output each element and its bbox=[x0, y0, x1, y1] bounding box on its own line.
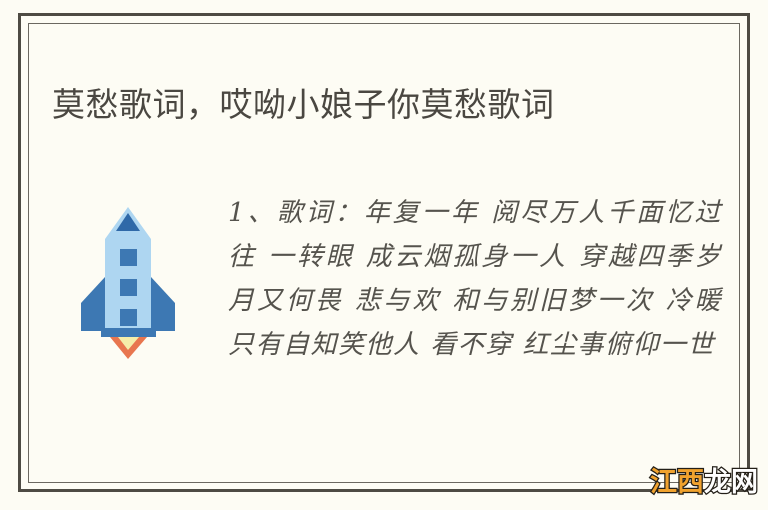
rocket-icon bbox=[79, 199, 177, 359]
lyrics-text: 1、歌词：年复一年 阅尽万人千面忆过往 一转眼 成云烟孤身一人 穿越四季岁月又何… bbox=[228, 191, 740, 367]
article-body-row: 1、歌词：年复一年 阅尽万人千面忆过往 一转眼 成云烟孤身一人 穿越四季岁月又何… bbox=[28, 191, 740, 367]
article-illustration bbox=[28, 191, 228, 359]
article-page: 莫愁歌词，哎呦小娘子你莫愁歌词 bbox=[0, 0, 768, 510]
site-watermark: 江西龙网 bbox=[650, 468, 758, 498]
watermark-part-two: 龙网 bbox=[704, 467, 758, 498]
page-title: 莫愁歌词，哎呦小娘子你莫愁歌词 bbox=[52, 83, 672, 127]
watermark-part-one: 江西 bbox=[650, 467, 704, 498]
article-content: 莫愁歌词，哎呦小娘子你莫愁歌词 bbox=[28, 23, 740, 483]
